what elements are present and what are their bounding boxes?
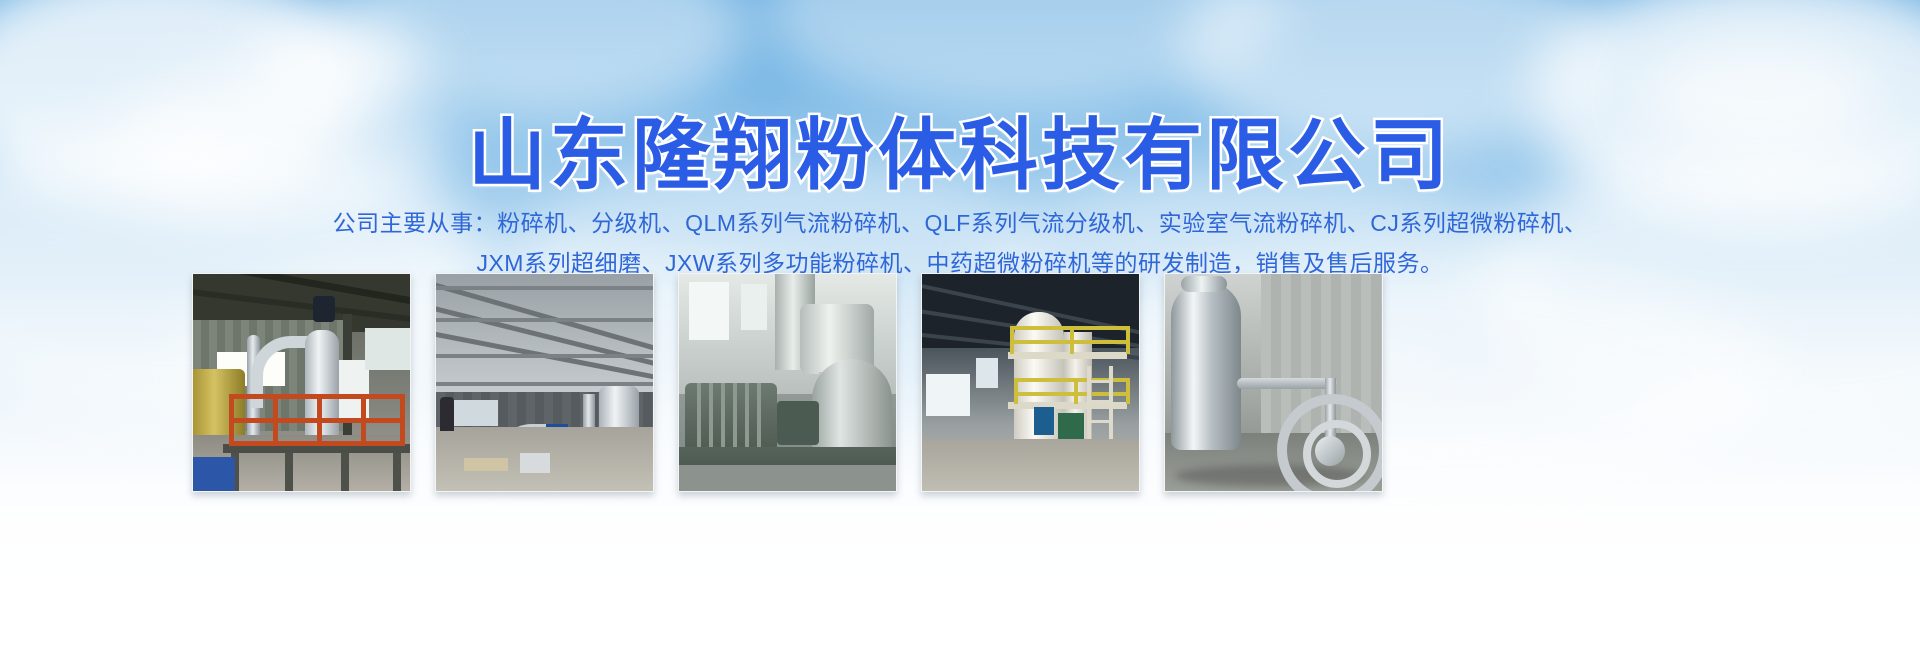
product-photo-1[interactable]	[192, 273, 411, 492]
photo-1-scene	[193, 274, 410, 491]
product-photo-4[interactable]	[921, 273, 1140, 492]
product-photo-2[interactable]	[435, 273, 654, 492]
company-title: 山东隆翔粉体科技有限公司	[0, 107, 1920, 203]
company-subtitle: 公司主要从事：粉碎机、分级机、QLM系列气流粉碎机、QLF系列气流分级机、实验室…	[0, 203, 1920, 283]
photo-3-scene	[679, 274, 896, 491]
photo-4-scene	[922, 274, 1139, 491]
photo-5-scene	[1165, 274, 1382, 491]
product-photo-5[interactable]	[1164, 273, 1383, 492]
subtitle-line-1: 公司主要从事：粉碎机、分级机、QLM系列气流粉碎机、QLF系列气流分级机、实验室…	[0, 203, 1920, 243]
company-banner: 山东隆翔粉体科技有限公司 公司主要从事：粉碎机、分级机、QLM系列气流粉碎机、Q…	[0, 0, 1920, 667]
photo-2-scene	[436, 274, 653, 491]
cloud-shape	[250, 20, 430, 110]
cloud-shape	[330, 0, 750, 120]
cloud-shape	[760, 0, 1280, 110]
product-photo-3[interactable]	[678, 273, 897, 492]
product-photo-strip	[192, 273, 1728, 491]
